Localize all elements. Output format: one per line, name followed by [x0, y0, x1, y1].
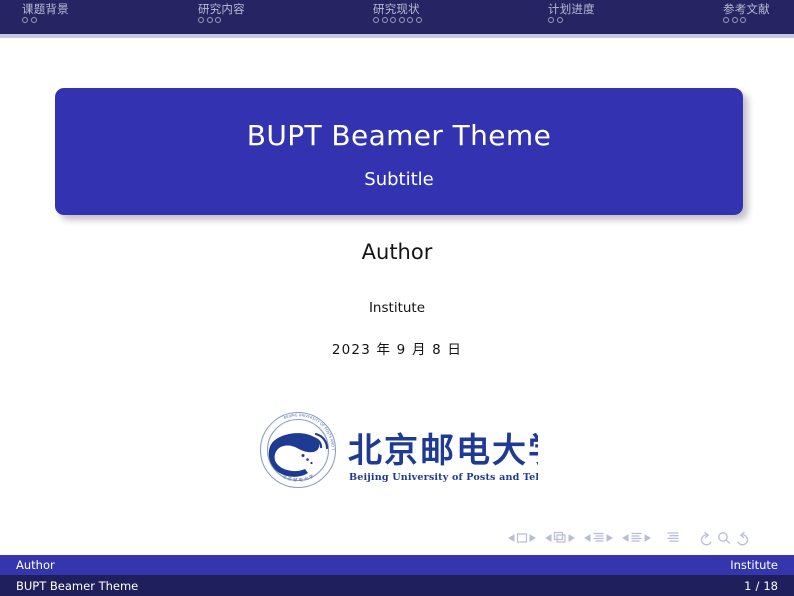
nav-slide-dot[interactable]	[732, 17, 738, 23]
nav-section-label: 计划进度	[548, 2, 595, 16]
subsection-current-icon	[594, 534, 603, 542]
logo-chinese-name: 北京邮电大学	[348, 431, 538, 471]
search-icon-handle	[726, 540, 730, 543]
section-prev-icon	[623, 535, 628, 541]
nav-section-dots	[723, 17, 770, 23]
page-subtitle: Subtitle	[364, 169, 433, 190]
nav-slide-dot[interactable]	[557, 17, 563, 23]
subsection-prev-icon	[585, 535, 590, 541]
nav-section-dots	[548, 17, 595, 23]
frame-prev-icon	[546, 535, 551, 541]
nav-slide-dot[interactable]	[548, 17, 554, 23]
nav-slide-dot[interactable]	[416, 17, 422, 23]
nav-section-label: 参考文献	[723, 2, 770, 16]
footer-bar-lower: BUPT Beamer Theme 1 / 18	[0, 575, 794, 596]
nav-slide-dot[interactable]	[723, 17, 729, 23]
slide-prev-icon	[509, 535, 514, 541]
nav-section-dots	[22, 17, 69, 23]
nav-slide-dot[interactable]	[399, 17, 405, 23]
title-block: BUPT Beamer Theme Subtitle	[55, 88, 743, 215]
nav-section-4[interactable]: 参考文献	[723, 2, 770, 23]
logo-english-name: Beijing University of Posts and Telecomm…	[349, 472, 538, 483]
nav-slide-dot[interactable]	[390, 17, 396, 23]
footer-page-number: 1 / 18	[744, 575, 778, 596]
title-meta-block: Author Institute 2023 年 9 月 8 日	[0, 238, 794, 359]
frame-next-icon	[569, 535, 574, 541]
frame-current-icon	[555, 533, 566, 543]
header-separator-rule	[0, 34, 794, 38]
nav-section-0[interactable]: 课题背景	[22, 2, 69, 23]
section-current-icon	[632, 534, 641, 542]
subsection-next-icon	[607, 535, 612, 541]
presentation-date: 2023 年 9 月 8 日	[0, 341, 794, 359]
page-current: 1	[744, 579, 751, 593]
doc-icon	[668, 533, 678, 541]
nav-slide-dot[interactable]	[31, 17, 37, 23]
nav-section-label: 课题背景	[22, 2, 69, 16]
nav-slide-dot[interactable]	[215, 17, 221, 23]
author-name: Author	[0, 238, 794, 266]
nav-section-3[interactable]: 计划进度	[548, 2, 595, 23]
nav-slide-dot[interactable]	[198, 17, 204, 23]
nav-slide-dot[interactable]	[740, 17, 746, 23]
nav-slide-dot[interactable]	[382, 17, 388, 23]
nav-slide-dot[interactable]	[373, 17, 379, 23]
page-total: 18	[763, 579, 778, 593]
nav-section-dots	[198, 17, 245, 23]
footer-author: Author	[16, 555, 55, 575]
nav-slide-dot[interactable]	[22, 17, 28, 23]
slide-current-icon	[518, 534, 527, 542]
slide-next-icon	[530, 535, 535, 541]
beamer-navigation-symbols[interactable]	[505, 529, 770, 547]
nav-section-dots	[373, 17, 422, 23]
page-title: BUPT Beamer Theme	[247, 119, 551, 152]
footer-bar-upper: Author Institute	[0, 555, 794, 575]
footer-short-title: BUPT Beamer Theme	[16, 575, 138, 596]
nav-section-1[interactable]: 研究内容	[198, 2, 245, 23]
bupt-seal-icon: BEIJING UNIVERSITY OF POSTS AND TELECOMM…	[258, 410, 336, 488]
nav-slide-dot[interactable]	[407, 17, 413, 23]
page-separator: /	[755, 579, 759, 593]
section-next-icon	[645, 535, 650, 541]
institute-name: Institute	[0, 299, 794, 317]
nav-section-2[interactable]: 研究现状	[373, 2, 422, 23]
nav-section-label: 研究内容	[198, 2, 245, 16]
nav-slide-dot[interactable]	[207, 17, 213, 23]
footer-institute: Institute	[730, 555, 778, 575]
bupt-logo: BEIJING UNIVERSITY OF POSTS AND TELECOMM…	[258, 410, 538, 494]
nav-section-label: 研究现状	[373, 2, 422, 16]
